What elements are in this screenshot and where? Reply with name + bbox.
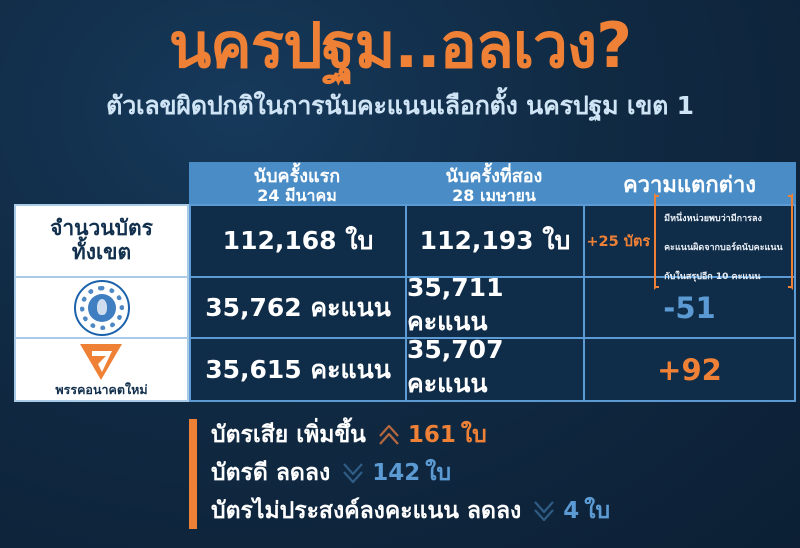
- summary-value: 142: [372, 460, 420, 486]
- comparison-table: จำนวนบัตร ทั้งเขต พรรคอนาคตใหม่: [14, 162, 796, 402]
- column-header-first-count-title: นับครั้งแรก: [254, 167, 340, 187]
- double-chevron-down-icon: [340, 460, 366, 486]
- title-block: นครปฐม..อลเวง? ตัวเลขผิดปกติในการนับคะแน…: [0, 14, 800, 126]
- difference-note-line-1: มีหนึ่งหน่วยพบว่ามีการลง: [664, 214, 762, 224]
- page-title: นครปฐม..อลเวง?: [0, 14, 800, 78]
- summary-unit: ใบ: [425, 455, 451, 491]
- difference-note-line-3: กับในสรุปอีก 10 คะแนน: [664, 272, 760, 282]
- summary-accent-bar: [189, 419, 197, 529]
- column-header-second-count-date: 28 เมษายน: [452, 187, 536, 205]
- summary-value: 161: [408, 422, 456, 448]
- row-label-line-1: จำนวนบัตร: [50, 217, 153, 241]
- summary-label: บัตรไม่ประสงค์ลงคะแนน ลดลง: [211, 493, 521, 529]
- row-label-future-forward-party: พรรคอนาคตใหม่: [16, 339, 187, 400]
- list-item: บัตรเสีย เพิ่มขึ้น 161 ใบ: [211, 416, 771, 454]
- cell-first-count: 35,615 คะแนน: [191, 339, 407, 400]
- column-header-second-count: นับครั้งที่สอง 28 เมษายน: [405, 162, 583, 210]
- list-item: บัตรดี ลดลง 142 ใบ: [211, 454, 771, 492]
- summary-label: บัตรเสีย เพิ่มขึ้น: [211, 417, 366, 453]
- column-header-first-count-date: 24 มีนาคม: [257, 187, 337, 205]
- cell-second-count: 35,707 คะแนน: [407, 339, 585, 400]
- future-forward-party-name: พรรคอนาคตใหม่: [55, 384, 147, 397]
- page-subtitle: ตัวเลขผิดปกติในการนับคะแนนเลือกตั้ง นครป…: [0, 86, 800, 126]
- democrat-party-seal-icon: [74, 280, 130, 336]
- summary-block: บัตรเสีย เพิ่มขึ้น 161 ใบ บัตรดี ลดลง: [189, 416, 789, 532]
- row-label-total-ballots: จำนวนบัตร ทั้งเขต: [16, 206, 187, 278]
- double-chevron-up-icon: [376, 422, 402, 448]
- row-label-column: จำนวนบัตร ทั้งเขต พรรคอนาคตใหม่: [14, 204, 189, 402]
- difference-value: -51: [663, 291, 715, 325]
- cell-second-count: 112,193 ใบ: [407, 206, 585, 276]
- row-label-democrat-party: [16, 278, 187, 339]
- difference-note-line-2: คะแนนผิดจากบอร์ดนับคะแนน: [664, 243, 782, 253]
- column-header-second-count-title: นับครั้งที่สอง: [446, 167, 543, 187]
- double-chevron-down-icon: [531, 498, 557, 524]
- row-label-line-2: ทั้งเขต: [72, 241, 131, 265]
- democrat-seal-center: [88, 294, 116, 322]
- list-item: บัตรไม่ประสงค์ลงคะแนน ลดลง 4 ใบ: [211, 492, 771, 530]
- table-body: 112,168 ใบ 112,193 ใบ +25 บัตร มีหนึ่งหน…: [189, 204, 796, 402]
- infographic-root: นครปฐม..อลเวง? ตัวเลขผิดปกติในการนับคะแน…: [0, 0, 800, 548]
- cell-first-count: 35,762 คะแนน: [191, 278, 407, 337]
- column-header-first-count: นับครั้งแรก 24 มีนาคม: [189, 162, 405, 210]
- summary-unit: ใบ: [584, 493, 610, 529]
- future-forward-party-logo-icon: [78, 342, 124, 382]
- table-row: 35,615 คะแนน 35,707 คะแนน +92: [191, 339, 794, 400]
- difference-value: +25 บัตร: [586, 230, 650, 253]
- cell-difference: +25 บัตร มีหนึ่งหน่วยพบว่ามีการลง คะแนนผ…: [585, 206, 794, 276]
- summary-unit: ใบ: [461, 417, 487, 453]
- summary-label: บัตรดี ลดลง: [211, 455, 330, 491]
- summary-value: 4: [563, 498, 579, 524]
- difference-value: +92: [657, 353, 722, 387]
- cell-first-count: 112,168 ใบ: [191, 206, 407, 276]
- table-row: 112,168 ใบ 112,193 ใบ +25 บัตร มีหนึ่งหน…: [191, 206, 794, 278]
- cell-second-count: 35,711 คะแนน: [407, 278, 585, 337]
- cell-difference: +92: [585, 339, 794, 400]
- difference-note-bracket: มีหนึ่งหน่วยพบว่ามีการลง คะแนนผิดจากบอร์…: [654, 193, 792, 290]
